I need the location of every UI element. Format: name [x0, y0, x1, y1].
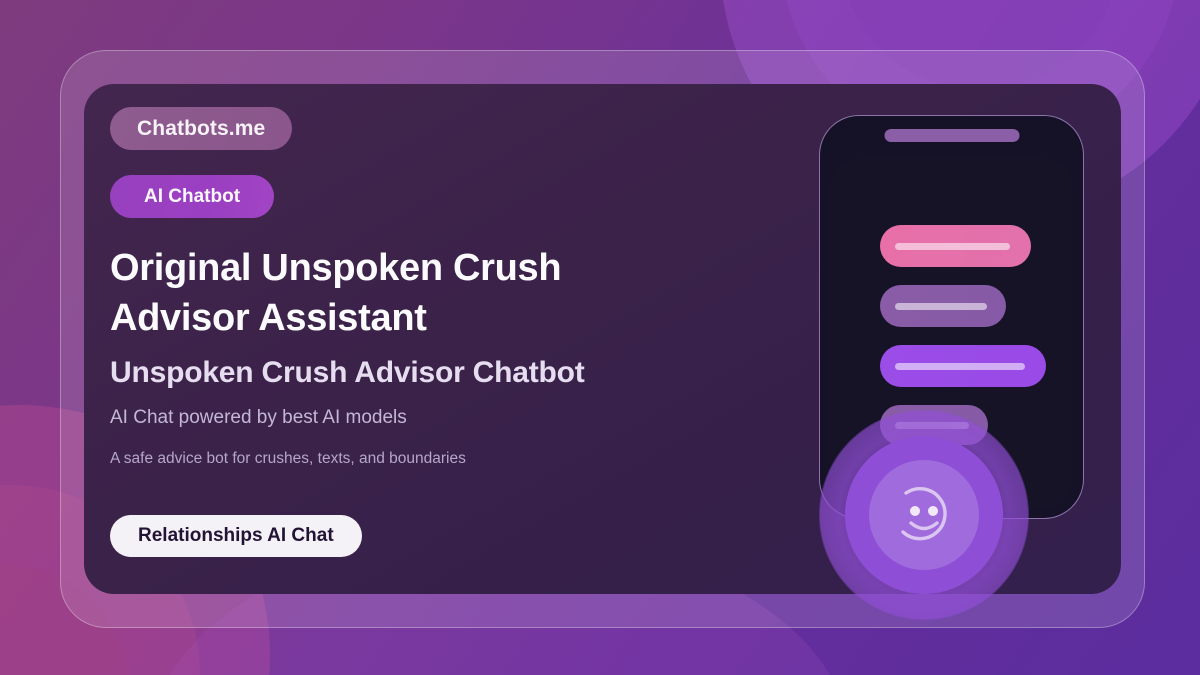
- page-tagline: AI Chat powered by best AI models: [110, 407, 770, 429]
- page-subtitle: Unspoken Crush Advisor Chatbot: [110, 355, 770, 391]
- page-description: A safe advice bot for crushes, texts, an…: [110, 450, 770, 468]
- avatar-ring: [845, 436, 1003, 594]
- assistant-avatar: [820, 411, 1028, 619]
- category-badge-label: AI Chatbot: [144, 186, 240, 208]
- phone-handle-bar: [884, 129, 1019, 142]
- hero-content: Chatbots.me AI Chatbot Original Unspoken…: [110, 107, 770, 557]
- chat-bubble-text-line: [895, 243, 1010, 250]
- page-title-line-1: Original Unspoken Crush: [110, 243, 710, 293]
- page-title-line-2: Advisor Assistant: [110, 293, 710, 343]
- category-badge[interactable]: AI Chatbot: [110, 175, 274, 218]
- page-title: Original Unspoken Crush Advisor Assistan…: [110, 243, 710, 343]
- chat-bubble-assistant: [880, 285, 1006, 327]
- chat-bubble-user: [880, 225, 1031, 267]
- cta-button[interactable]: Relationships AI Chat: [110, 515, 362, 557]
- cta-button-label: Relationships AI Chat: [138, 525, 334, 547]
- chat-bubble-highlight: [880, 345, 1046, 387]
- chat-bubble-text-line: [895, 303, 987, 310]
- brand-badge[interactable]: Chatbots.me: [110, 107, 292, 150]
- brand-badge-label: Chatbots.me: [137, 117, 265, 141]
- chat-bubble-text-line: [895, 363, 1025, 370]
- smiley-face-icon: [869, 460, 979, 570]
